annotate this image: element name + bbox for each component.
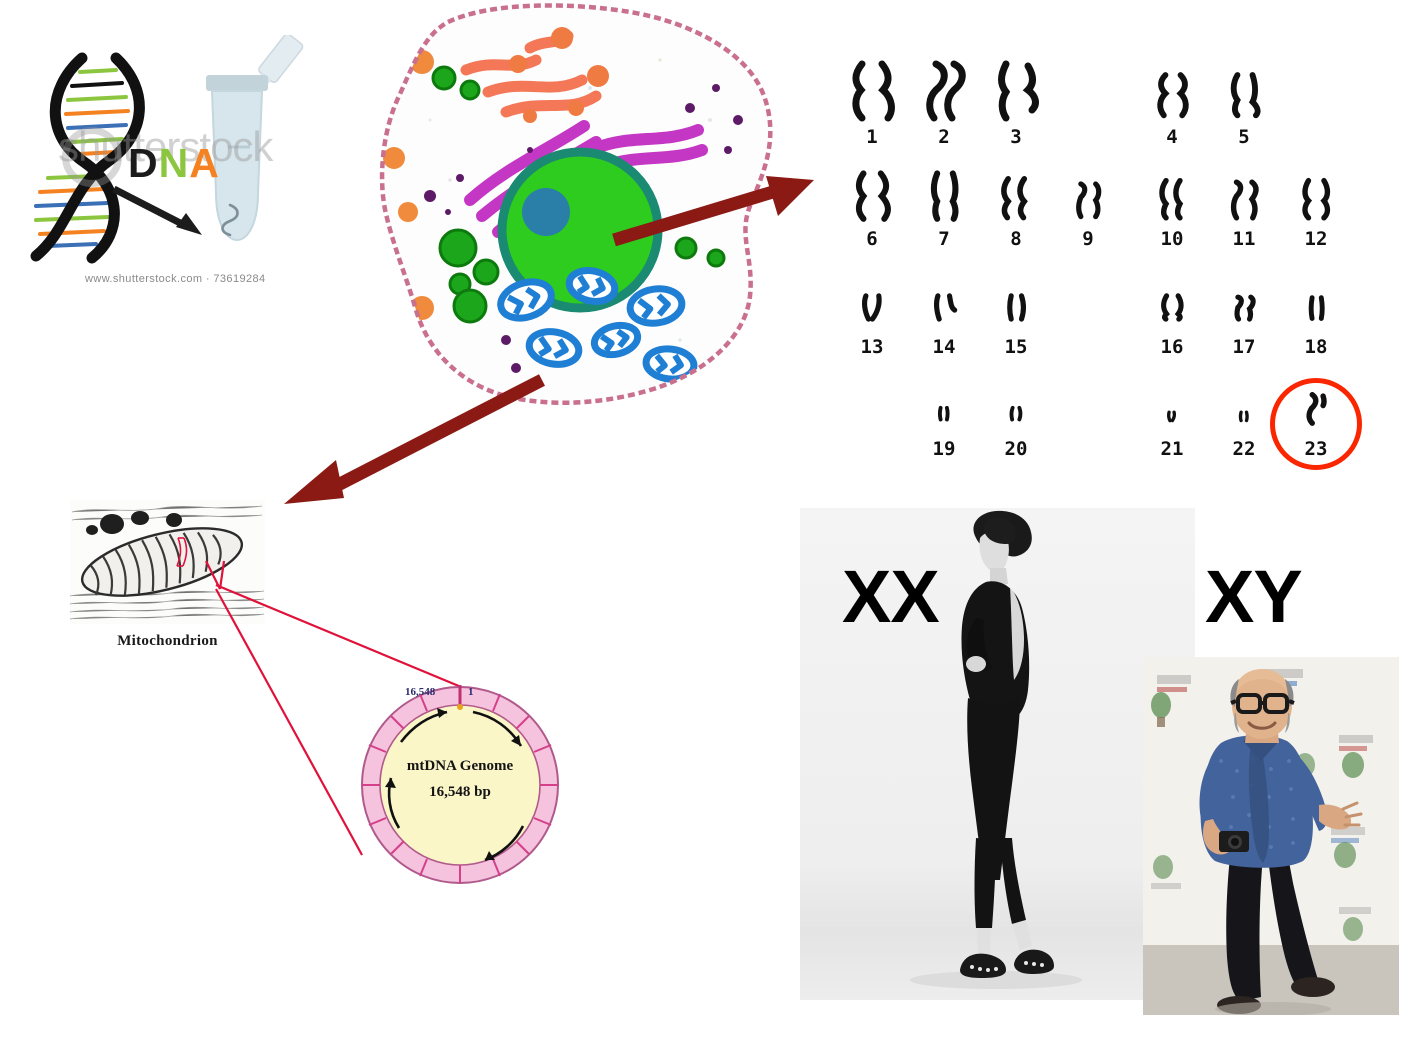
chromosome-number: 20 — [984, 440, 1048, 459]
chromosome-number: 3 — [984, 128, 1048, 147]
chromosome-number: 12 — [1284, 230, 1348, 249]
chromosome-number: 8 — [984, 230, 1048, 249]
chromosome-number: 10 — [1140, 230, 1204, 249]
chromosome-pair-3[interactable]: 3 — [984, 60, 1048, 147]
chromosome-number: 19 — [912, 440, 976, 459]
chromosome-number: 6 — [840, 230, 904, 249]
chromosome-pair-4[interactable]: 4 — [1140, 60, 1204, 147]
chromosome-number: 18 — [1284, 338, 1348, 357]
chromosome-number: 22 — [1212, 440, 1276, 459]
chromosome-pair-21[interactable]: 21 — [1140, 382, 1204, 459]
mtdna-position-right: 1 — [468, 686, 474, 698]
chromosome-number: 15 — [984, 338, 1048, 357]
chromosome-pair-9[interactable]: 9 — [1056, 170, 1120, 249]
chromosome-number: 13 — [840, 338, 904, 357]
chromosome-pair-23-sex[interactable]: 23 — [1284, 382, 1348, 459]
chromosome-number: 11 — [1212, 230, 1276, 249]
chromosome-pair-16[interactable]: 16 — [1140, 278, 1204, 357]
chromosome-number: 4 — [1140, 128, 1204, 147]
chromosome-number: 14 — [912, 338, 976, 357]
chromosome-pair-20[interactable]: 20 — [984, 382, 1048, 459]
karyotype-row-2: 6 7 8 9 — [830, 170, 1390, 265]
chromosome-number: 2 — [912, 128, 976, 147]
dna-letter-n: N — [159, 140, 190, 186]
arrow-nucleus-to-karyotype — [608, 168, 840, 268]
dna-word-label: DNA — [128, 140, 220, 187]
chromosome-number: 16 — [1140, 338, 1204, 357]
chromosome-pair-12[interactable]: 12 — [1284, 170, 1348, 249]
chromosome-pair-6[interactable]: 6 — [840, 170, 904, 249]
chromosome-number: 9 — [1056, 230, 1120, 249]
slide-canvas: shutterstock DNA www.shutterstock.com · … — [0, 0, 1407, 1039]
mtdna-genome-diagram: 16,548 1 mtDNA Genome 16,548 bp — [355, 680, 565, 890]
karyotype-row-4: 19 20 21 22 — [830, 382, 1390, 477]
small-black-arrow-icon — [110, 183, 210, 245]
chromosome-pair-8[interactable]: 8 — [984, 170, 1048, 249]
chromosome-pair-5[interactable]: 5 — [1212, 60, 1276, 147]
photo-male-xy — [1143, 657, 1399, 1015]
dna-letter-d: D — [128, 140, 159, 186]
label-xy: XY — [1205, 560, 1302, 634]
chromosome-number: 23 — [1284, 440, 1348, 459]
chromosome-pair-22[interactable]: 22 — [1212, 382, 1276, 459]
chromosome-number: 17 — [1212, 338, 1276, 357]
chromosome-pair-17[interactable]: 17 — [1212, 278, 1276, 357]
chromosome-number: 1 — [840, 128, 904, 147]
chromosome-pair-2[interactable]: 2 — [912, 60, 976, 147]
chromosome-number: 7 — [912, 230, 976, 249]
nucleolus — [522, 188, 570, 236]
chromosome-pair-1[interactable]: 1 — [840, 60, 904, 147]
shutterstock-caption: www.shutterstock.com · 73619284 — [85, 273, 266, 285]
chromosome-pair-10[interactable]: 10 — [1140, 170, 1204, 249]
chromosome-pair-11[interactable]: 11 — [1212, 170, 1276, 249]
chromosome-pair-14[interactable]: 14 — [912, 278, 976, 357]
karyotype-row-3: 13 14 15 16 — [830, 278, 1390, 373]
chromosome-number: 21 — [1140, 440, 1204, 459]
dna-letter-a: A — [189, 140, 220, 186]
dna-stock-image: shutterstock DNA www.shutterstock.com · … — [10, 35, 320, 300]
mtdna-position-left: 16,548 — [405, 686, 435, 698]
arrow-cell-to-mitochondrion — [262, 364, 554, 516]
chromosome-pair-13[interactable]: 13 — [840, 278, 904, 357]
chromosome-number: 5 — [1212, 128, 1276, 147]
chromosome-pair-7[interactable]: 7 — [912, 170, 976, 249]
chromosome-pair-15[interactable]: 15 — [984, 278, 1048, 357]
karyotype-row-1: 1 2 3 4 — [830, 60, 1390, 155]
human-karyotype: 1 2 3 4 — [830, 60, 1390, 470]
chromosome-pair-18[interactable]: 18 — [1284, 278, 1348, 357]
chromosome-pair-19[interactable]: 19 — [912, 382, 976, 459]
label-xx: XX — [842, 560, 939, 634]
